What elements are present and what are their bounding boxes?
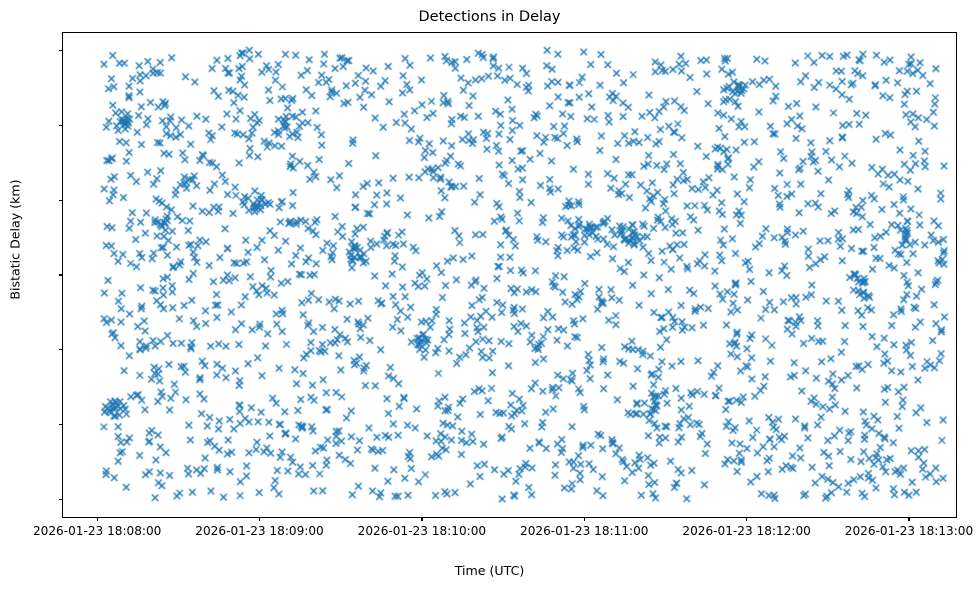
x-tick-mark	[259, 517, 260, 521]
x-axis-label: Time (UTC)	[0, 562, 979, 580]
y-tick-mark	[59, 50, 63, 51]
x-tick-label: 2026-01-23 18:13:00	[799, 522, 979, 540]
y-tick-mark	[59, 274, 63, 275]
x-tick-mark	[584, 517, 585, 521]
y-tick-mark	[59, 200, 63, 201]
scatter-plot-canvas	[63, 33, 956, 517]
y-axis-label: Bistatic Delay (km)	[8, 75, 23, 405]
x-tick-mark	[746, 517, 747, 521]
x-tick-mark	[908, 517, 909, 521]
x-tick-mark	[421, 517, 422, 521]
x-tick-mark	[97, 517, 98, 521]
y-tick-mark	[59, 424, 63, 425]
y-tick-mark	[59, 349, 63, 350]
matplotlib-figure: Detections in Delay 0102030405060 2026-0…	[0, 0, 979, 590]
y-tick-mark	[59, 125, 63, 126]
plot-axes-frame	[62, 32, 957, 518]
page-title: Detections in Delay	[0, 8, 979, 26]
y-tick-mark	[59, 499, 63, 500]
